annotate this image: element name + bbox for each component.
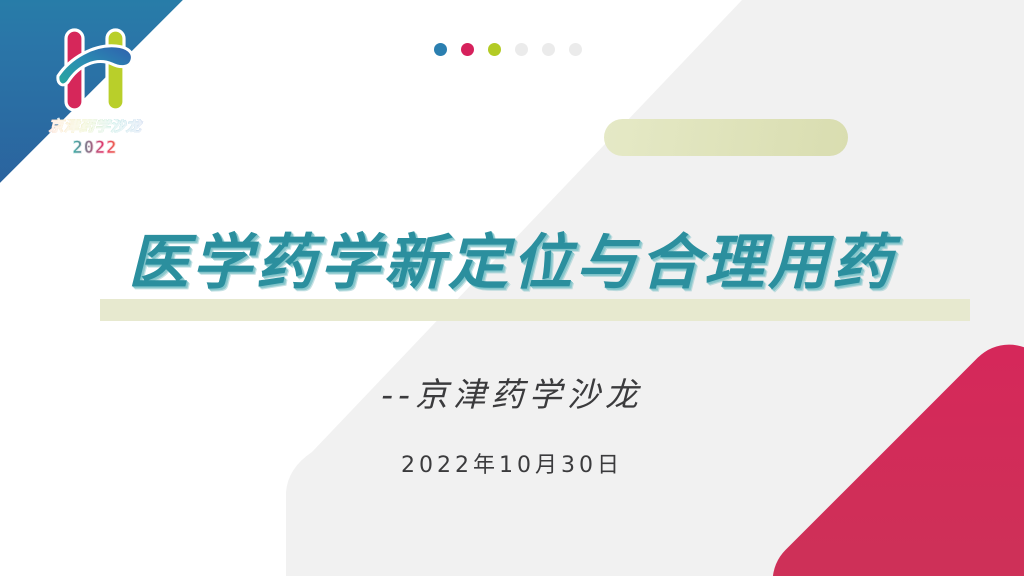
slide-date: 2022年10月30日 (0, 447, 1024, 479)
slide-content: 医学药学新定位与合理用药 --京津药学沙龙 2022年10月30日 (0, 0, 1024, 576)
page-title: 医学药学新定位与合理用药 (0, 232, 1024, 295)
slide-subtitle: --京津药学沙龙 (0, 368, 1024, 416)
title-slide: 京津药学沙龙 2022 医学药学新定位与合理用药 --京津药学沙龙 2022年1… (0, 0, 1024, 576)
